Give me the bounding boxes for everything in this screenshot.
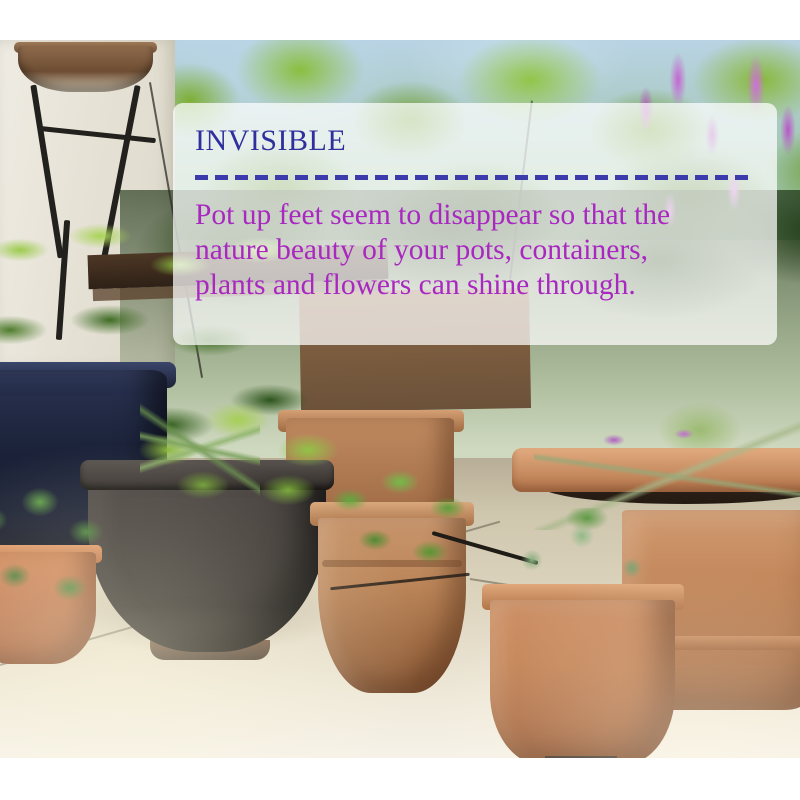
left-ivy-foliage bbox=[0, 480, 130, 630]
front-terracotta-pot bbox=[490, 600, 675, 758]
rosemary-foliage bbox=[140, 370, 260, 520]
mint-foliage bbox=[320, 460, 490, 590]
body-line-1: Pot up feet seem to disappear so that th… bbox=[195, 198, 751, 233]
body-copy: Pot up feet seem to disappear so that th… bbox=[195, 198, 751, 304]
text-overlay-panel: INVISIBLE Pot up feet seem to disappear … bbox=[173, 103, 777, 345]
body-line-3: plants and flowers can shine through. bbox=[195, 268, 751, 303]
body-line-2: nature beauty of your pots, containers, bbox=[195, 233, 751, 268]
front-pot-foot bbox=[545, 756, 617, 758]
page-title: INVISIBLE bbox=[195, 125, 751, 157]
page-canvas: INVISIBLE Pot up feet seem to disappear … bbox=[0, 0, 800, 800]
dashed-divider-icon bbox=[195, 175, 751, 180]
